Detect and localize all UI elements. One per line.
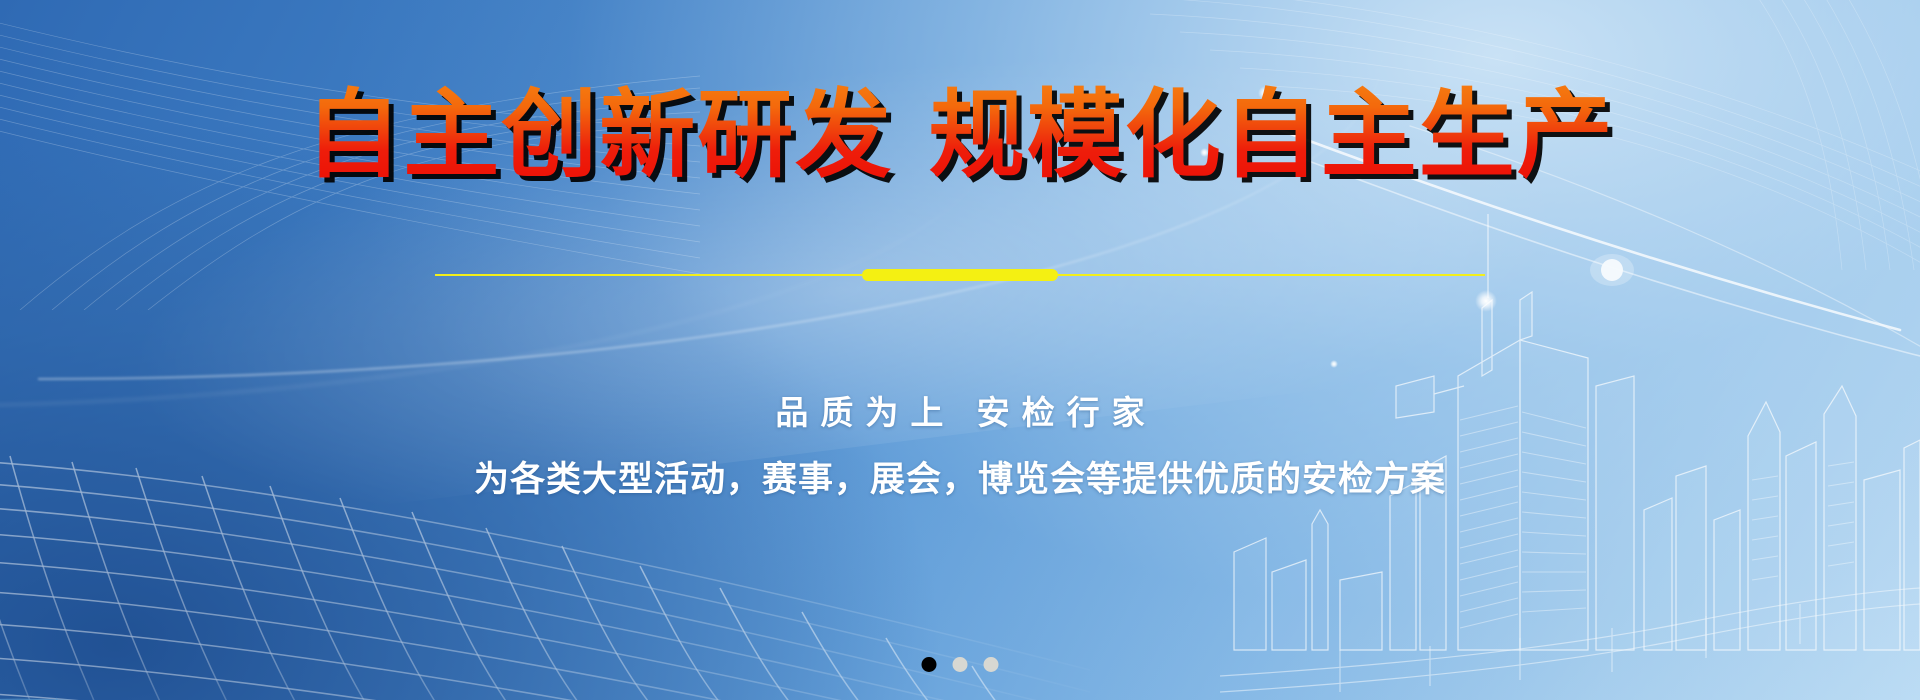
slogan-text: 品质为上 安检行家 [0, 386, 1920, 434]
carousel-dots[interactable] [922, 657, 999, 672]
banner-content: 自主创新研发 规模化自主生产 品质为上 安检行家 为各类大型活动，赛事，展会，博… [0, 0, 1920, 700]
hero-banner: 自主创新研发 规模化自主生产 品质为上 安检行家 为各类大型活动，赛事，展会，博… [0, 0, 1920, 700]
carousel-dot-3[interactable] [984, 657, 999, 672]
tagline-text: 为各类大型活动，赛事，展会，博览会等提供优质的安检方案 [0, 451, 1920, 502]
page-title: 自主创新研发 规模化自主生产 [0, 84, 1920, 188]
divider-thick-segment [862, 269, 1058, 281]
carousel-dot-1[interactable] [922, 657, 937, 672]
carousel-dot-2[interactable] [953, 657, 968, 672]
yellow-divider [435, 268, 1485, 282]
